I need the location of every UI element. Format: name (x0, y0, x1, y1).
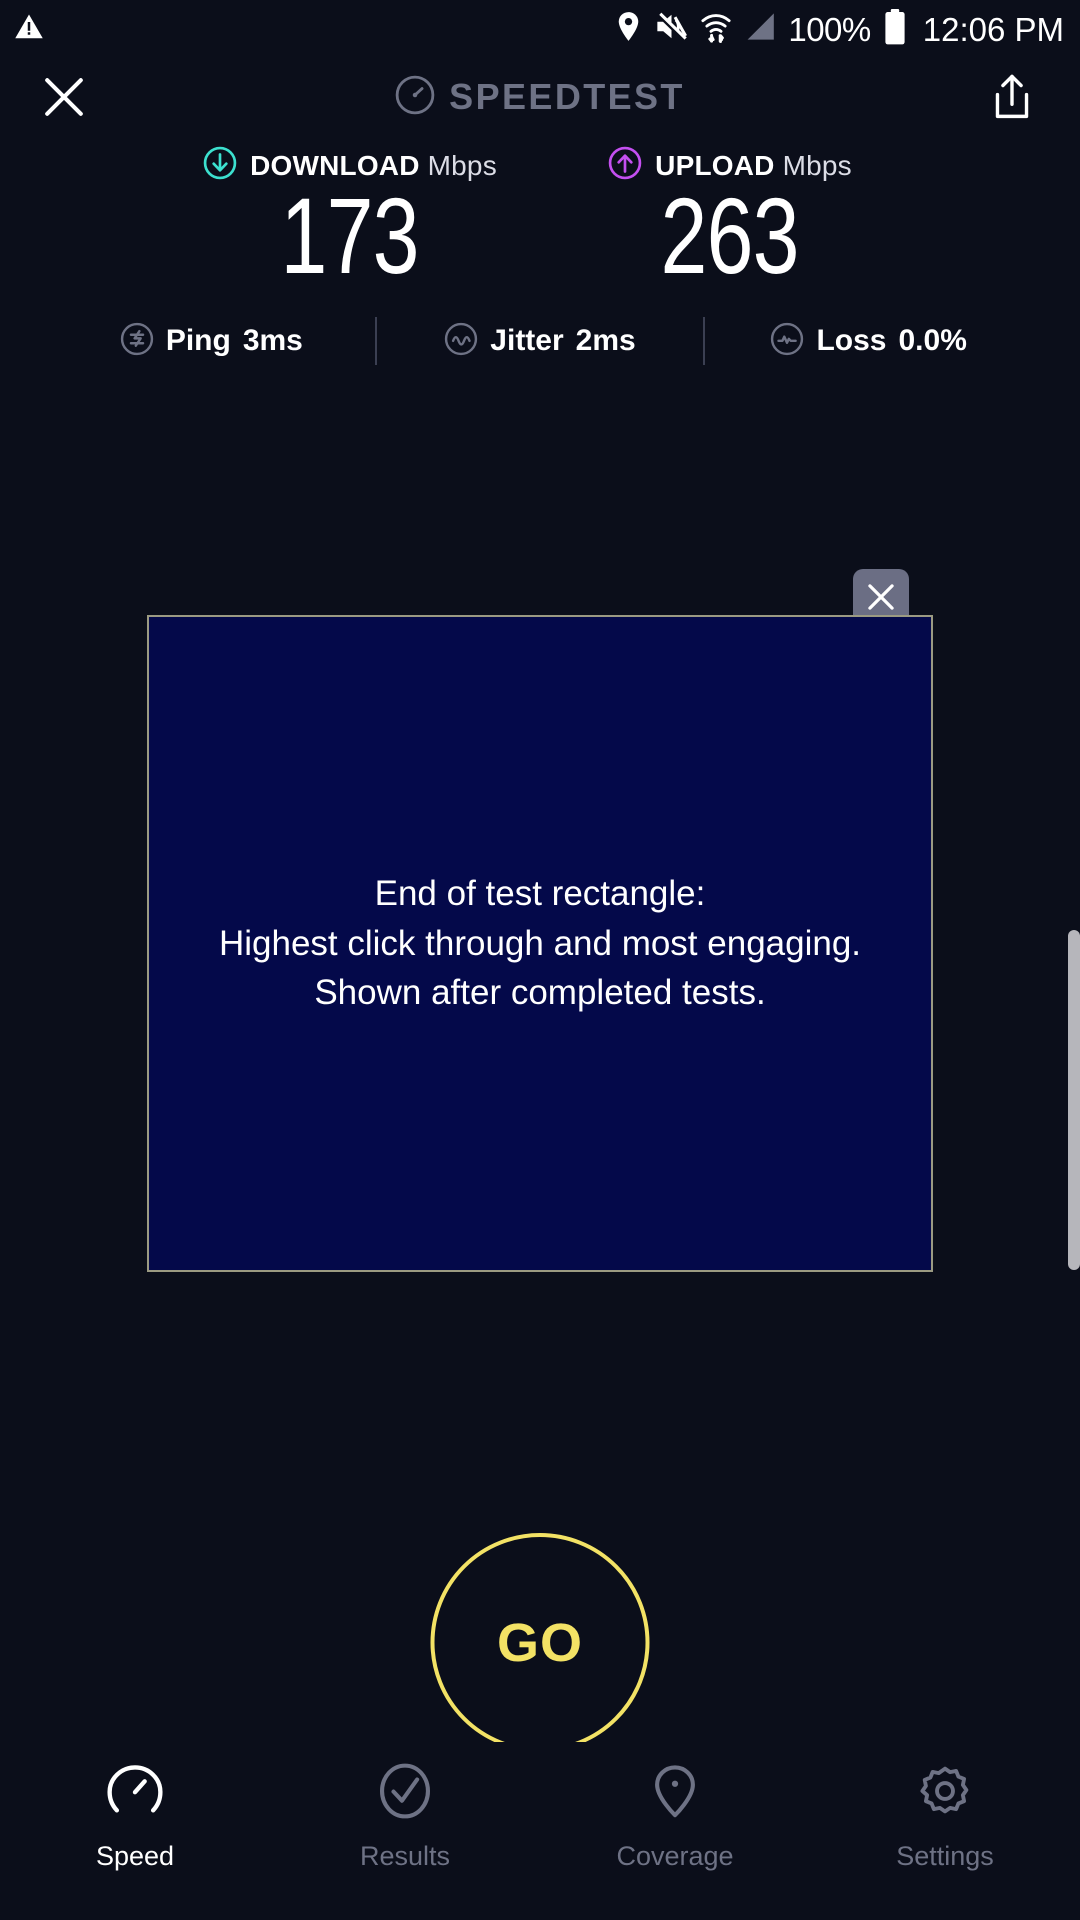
status-bar-left (14, 12, 44, 47)
check-circle-icon (376, 1762, 434, 1825)
ping-icon (120, 322, 154, 361)
gear-icon (916, 1762, 974, 1825)
arrow-down-circle-icon (203, 146, 237, 185)
share-icon (992, 74, 1032, 120)
nav-item-results[interactable]: Results (270, 1762, 540, 1872)
mute-icon (655, 11, 688, 47)
jitter-icon (444, 322, 478, 361)
ad-text: End of test rectangle: Highest click thr… (209, 869, 871, 1018)
metric-ping: Ping 3ms (48, 322, 375, 361)
download-unit: Mbps (428, 150, 497, 181)
page-title: SPEEDTEST (449, 76, 685, 118)
download-value: 173 (281, 181, 419, 291)
nav-label-coverage: Coverage (616, 1841, 733, 1872)
advertisement-area: End of test rectangle: Highest click thr… (0, 560, 1080, 1280)
status-bar: 100% 12:06 PM (0, 0, 1080, 58)
ad-banner[interactable]: End of test rectangle: Highest click thr… (147, 615, 933, 1272)
loss-icon (770, 322, 804, 361)
nav-label-results: Results (360, 1841, 450, 1872)
speedometer-icon (395, 75, 435, 120)
bottom-navigation: Speed Results Coverage Settings (0, 1742, 1080, 1920)
ping-value: 3ms (243, 324, 303, 358)
nav-item-coverage[interactable]: Coverage (540, 1762, 810, 1872)
upload-result: UPLOAD Mbps 263 (540, 146, 920, 291)
metrics-row: Ping 3ms Jitter 2ms Loss 0.0% (0, 317, 1080, 365)
upload-value: 263 (661, 181, 799, 291)
metric-loss: Loss 0.0% (705, 322, 1032, 361)
warning-triangle-icon (14, 12, 44, 47)
map-pin-icon (646, 1762, 704, 1825)
ad-line-3: Shown after completed tests. (219, 968, 861, 1018)
jitter-label: Jitter (490, 324, 563, 358)
metric-jitter: Jitter 2ms (377, 322, 704, 361)
go-button[interactable]: GO (431, 1533, 650, 1752)
jitter-value: 2ms (576, 324, 636, 358)
download-result: DOWNLOAD Mbps 173 (160, 146, 540, 291)
close-icon (865, 581, 897, 613)
wifi-icon (701, 11, 731, 48)
cellular-signal-icon (744, 12, 775, 46)
results-panel: DOWNLOAD Mbps 173 UPLOAD Mbps 263 (0, 136, 1080, 365)
ping-label: Ping (166, 324, 231, 358)
battery-percent: 100% (788, 13, 870, 46)
speedometer-icon (106, 1762, 164, 1825)
battery-full-icon (884, 9, 906, 50)
app-header: SPEEDTEST (0, 58, 1080, 136)
status-time: 12:06 PM (923, 13, 1064, 46)
loss-label: Loss (816, 324, 886, 358)
location-icon (615, 11, 642, 47)
nav-label-speed: Speed (96, 1841, 174, 1872)
nav-item-settings[interactable]: Settings (810, 1762, 1080, 1872)
go-button-label: GO (497, 1612, 583, 1674)
nav-item-speed[interactable]: Speed (0, 1762, 270, 1872)
close-icon (40, 73, 88, 121)
close-button[interactable] (36, 69, 92, 125)
arrow-up-circle-icon (608, 146, 642, 185)
share-button[interactable] (986, 69, 1038, 125)
scrollbar[interactable] (1068, 930, 1080, 1270)
loss-value: 0.0% (899, 324, 967, 358)
ad-line-1: End of test rectangle: (219, 869, 861, 919)
status-bar-right: 100% 12:06 PM (615, 9, 1064, 50)
speeds-row: DOWNLOAD Mbps 173 UPLOAD Mbps 263 (0, 146, 1080, 291)
brand: SPEEDTEST (395, 75, 685, 120)
nav-label-settings: Settings (896, 1841, 994, 1872)
ad-line-2: Highest click through and most engaging. (219, 919, 861, 969)
